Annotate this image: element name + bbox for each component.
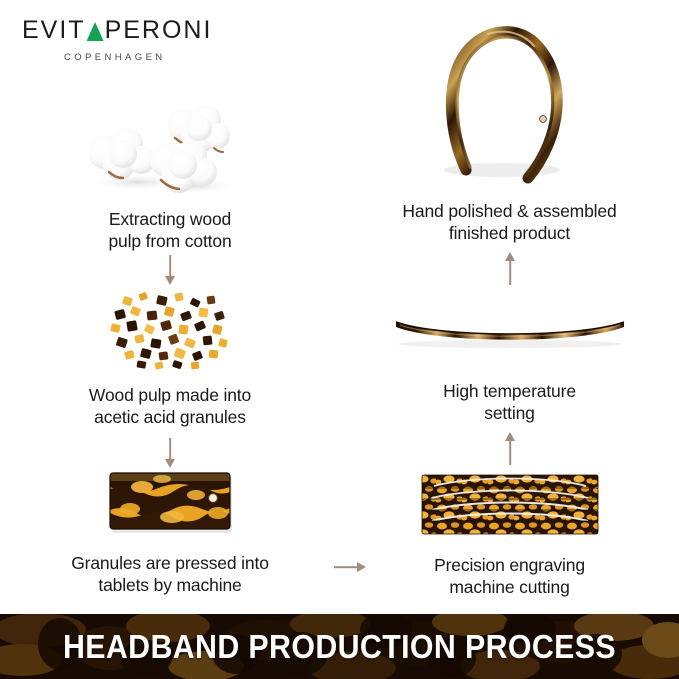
- step-1-cotton: Extracting wood pulp from cotton: [0, 100, 340, 250]
- tortoise-acetate-tablet-image: [0, 466, 340, 536]
- finished-headband-image: [340, 18, 679, 190]
- step-2-granules: Wood pulp made into acetic acid granules: [0, 288, 340, 438]
- tortoise-acetate-tablet-icon: [100, 465, 240, 537]
- cotton-bolls-icon: [75, 98, 265, 198]
- banner-title: HEADBAND PRODUCTION PROCESS: [27, 614, 652, 679]
- step-6-caption-line1: Hand polished & assembled: [340, 200, 679, 222]
- arrow-step5-to-step6: [492, 252, 528, 286]
- step-3-caption-line2: tablets by machine: [0, 574, 340, 596]
- arrow-up-icon-shaft: [509, 440, 511, 465]
- step-3-caption: Granules are pressed into tablets by mac…: [0, 552, 340, 597]
- step-2-caption-line1: Wood pulp made into: [0, 384, 340, 406]
- cotton-bolls-image: [0, 100, 340, 196]
- step-5-caption-line2: setting: [340, 402, 679, 424]
- footer-banner: HEADBAND PRODUCTION PROCESS: [0, 614, 679, 679]
- acetate-granules-image: [0, 288, 340, 370]
- infographic-page: EVITPERONI COPENHAGEN: [0, 0, 679, 679]
- acetate-granules-icon: [95, 287, 245, 371]
- step-4-caption-line2: machine cutting: [340, 576, 679, 598]
- step-1-caption: Extracting wood pulp from cotton: [0, 208, 340, 253]
- stacked-engraved-sheets-image: [340, 468, 679, 540]
- arrow-up-icon-head: [505, 432, 515, 441]
- process-column-left: Extracting wood pulp from cotton: [0, 0, 340, 612]
- step-3-tablet: Granules are pressed into tablets by mac…: [0, 466, 340, 606]
- step-2-caption-line2: acetic acid granules: [0, 406, 340, 428]
- step-4-engraving: Precision engraving machine cutting: [340, 468, 679, 608]
- arrow-down-icon-head: [165, 276, 175, 285]
- step-5-flat-strip: High temperature setting: [340, 296, 679, 438]
- step-1-caption-line2: pulp from cotton: [0, 230, 340, 252]
- stacked-engraved-sheets-icon: [410, 467, 610, 541]
- step-1-caption-line1: Extracting wood: [0, 208, 340, 230]
- finished-headband-icon: [410, 18, 610, 190]
- step-6-finished-headband: Hand polished & assembled finished produ…: [340, 18, 679, 250]
- step-6-caption-line2: finished product: [340, 222, 679, 244]
- step-6-caption: Hand polished & assembled finished produ…: [340, 200, 679, 245]
- flat-headband-strip-image: [340, 296, 679, 366]
- step-5-caption: High temperature setting: [340, 380, 679, 425]
- arrow-up-icon-shaft: [509, 260, 511, 285]
- step-2-caption: Wood pulp made into acetic acid granules: [0, 384, 340, 429]
- step-4-caption: Precision engraving machine cutting: [340, 554, 679, 599]
- step-5-caption-line1: High temperature: [340, 380, 679, 402]
- process-column-right: Hand polished & assembled finished produ…: [340, 0, 679, 612]
- arrow-step1-to-step2: [152, 255, 188, 287]
- step-3-caption-line1: Granules are pressed into: [0, 552, 340, 574]
- arrow-step4-to-step5: [492, 432, 528, 466]
- flat-headband-strip-icon: [380, 296, 640, 366]
- step-4-caption-line1: Precision engraving: [340, 554, 679, 576]
- arrow-up-icon-head: [505, 252, 515, 261]
